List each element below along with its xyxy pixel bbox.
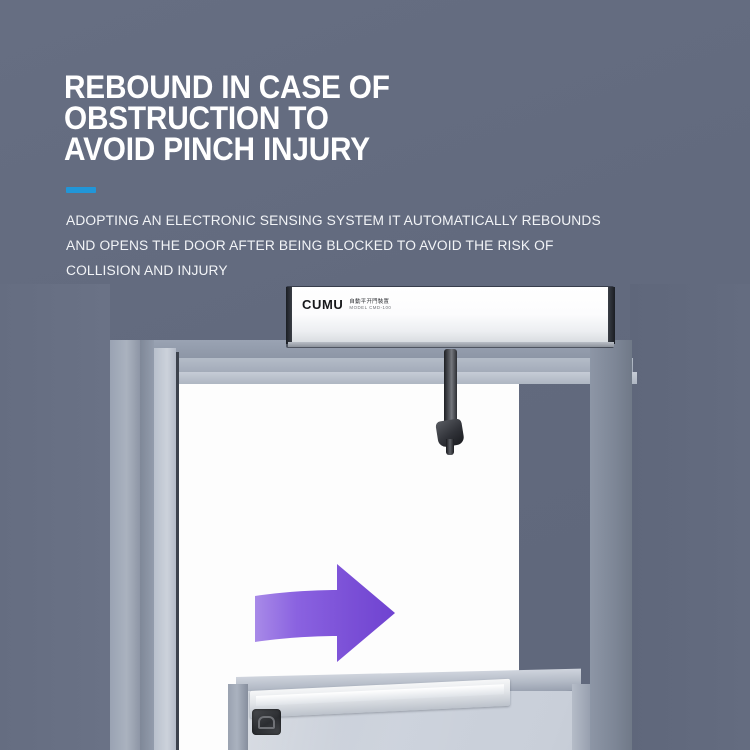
promo-banner: REBOUND IN CASE OF OBSTRUCTION TO AVOID …: [0, 0, 750, 750]
accent-divider: [66, 187, 96, 193]
door-frame-left-jamb-edge: [176, 352, 179, 750]
operator-end-cap-right: [608, 287, 615, 344]
brand-logo-text: CUMU: [302, 298, 343, 311]
door-frame-left-jamb-inner: [154, 348, 176, 750]
brand-model-number: MODEL CMD-100: [349, 305, 391, 311]
wall-right: [630, 284, 750, 750]
arrow-shape: [255, 564, 395, 662]
wall-left: [0, 284, 110, 750]
door-leaf-left-edge: [228, 684, 248, 750]
door-frame-right-jamb: [590, 340, 632, 750]
operator-arm-pin: [446, 439, 454, 455]
page-subtitle: ADOPTING AN ELECTRONIC SENSING SYSTEM IT…: [66, 209, 629, 284]
operator-arm-rod: [444, 349, 457, 427]
operator-housing: [290, 287, 610, 344]
page-title: REBOUND IN CASE OF OBSTRUCTION TO AVOID …: [64, 72, 641, 165]
product-photo: CUMU 自動平开門裝置 MODEL CMD-100: [0, 284, 750, 750]
door-frame-left-jamb-face: [140, 340, 154, 750]
door-frame-lintel-inner: [152, 372, 637, 384]
product-brand-plate: CUMU 自動平开門裝置 MODEL CMD-100: [302, 298, 391, 311]
door-leaf-right-edge: [572, 684, 590, 750]
door-frame-left-jamb-outer: [110, 340, 140, 750]
door-frame-lintel-mid: [128, 358, 633, 372]
door-swing-direction-arrow: [255, 556, 445, 676]
door-slide-track-endcap-icon: [252, 709, 281, 735]
operator-bottom-lip: [288, 342, 614, 347]
operator-end-cap-left: [286, 287, 292, 344]
